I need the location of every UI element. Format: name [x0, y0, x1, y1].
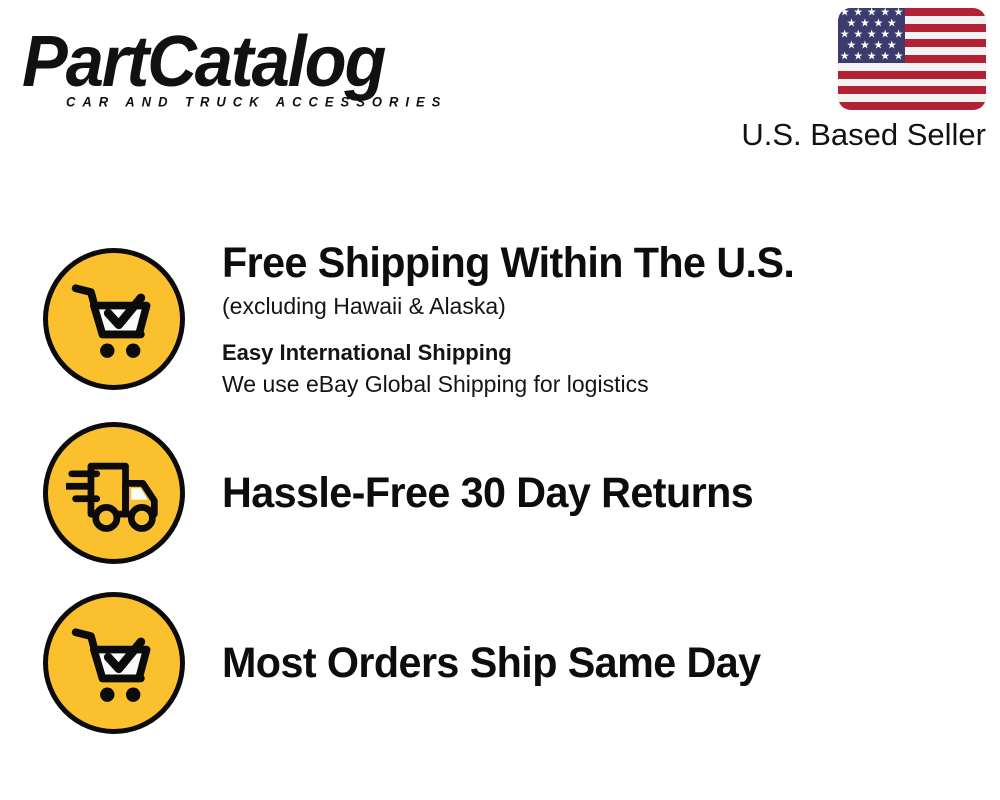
feature-text-free-shipping: Free Shipping Within The U.S. (excluding…	[222, 238, 980, 400]
flag-star-icon: ★	[840, 8, 850, 19]
flag-stripe	[838, 94, 986, 102]
feature-note: (excluding Hawaii & Alaska)	[222, 291, 980, 322]
flag-star-icon: ★	[853, 8, 863, 19]
flag-star-icon: ★	[894, 30, 904, 41]
flag-star-icon: ★	[880, 30, 890, 41]
delivery-truck-icon	[43, 422, 185, 564]
flag-stripe	[838, 102, 986, 110]
flag-star-icon: ★	[867, 52, 877, 63]
flag-star-icon: ★	[860, 19, 870, 30]
cart-check-icon	[43, 248, 185, 390]
shipping-info-banner: PartCatalog CAR AND TRUCK ACCESSORIES ★★…	[0, 0, 1000, 800]
flag-star-icon: ★	[853, 52, 863, 63]
brand-tagline: CAR AND TRUCK ACCESSORIES	[66, 94, 447, 110]
feature-subnote-international: We use eBay Global Shipping for logistic…	[222, 369, 980, 400]
us-based-seller-label: U.S. Based Seller	[716, 117, 986, 153]
flag-star-icon: ★	[847, 41, 857, 52]
flag-star-icon: ★	[867, 30, 877, 41]
flag-star-icon: ★	[853, 30, 863, 41]
brand-wordmark: PartCatalog	[22, 22, 384, 99]
flag-canton: ★★★★★★★★★★★★★★★★★★★★★★★	[838, 8, 905, 63]
feature-heading: Hassle-Free 30 Day Returns	[222, 468, 753, 518]
flag-star-icon: ★	[894, 8, 904, 19]
feature-row-free-shipping: Free Shipping Within The U.S. (excluding…	[0, 238, 1000, 408]
feature-row-same-day-shipping: Most Orders Ship Same Day	[0, 588, 1000, 740]
flag-star-icon: ★	[887, 41, 897, 52]
flag-star-icon: ★	[867, 8, 877, 19]
flag-star-icon: ★	[880, 52, 890, 63]
feature-subheading-international: Easy International Shipping	[222, 338, 980, 368]
feature-heading: Free Shipping Within The U.S.	[222, 238, 950, 288]
flag-star-icon: ★	[840, 30, 850, 41]
flag-star-icon: ★	[860, 41, 870, 52]
flag-stripe	[838, 63, 986, 71]
flag-star-icon: ★	[840, 52, 850, 63]
flag-stripe	[838, 86, 986, 94]
us-based-seller-badge: ★★★★★★★★★★★★★★★★★★★★★★★ U.S. Based Selle…	[716, 8, 986, 153]
flag-stripe	[838, 71, 986, 79]
flag-star-icon: ★	[873, 19, 883, 30]
us-flag-icon: ★★★★★★★★★★★★★★★★★★★★★★★	[838, 8, 986, 110]
cart-check-icon	[43, 592, 185, 734]
flag-stripe	[838, 79, 986, 87]
feature-heading: Most Orders Ship Same Day	[222, 638, 760, 688]
flag-star-icon: ★	[873, 41, 883, 52]
flag-star-icon: ★	[847, 19, 857, 30]
flag-star-icon: ★	[887, 19, 897, 30]
feature-row-returns: Hassle-Free 30 Day Returns	[0, 418, 1000, 570]
flag-star-icon: ★	[880, 8, 890, 19]
brand-logo: PartCatalog CAR AND TRUCK ACCESSORIES	[22, 22, 492, 117]
flag-star-icon: ★	[894, 52, 904, 63]
